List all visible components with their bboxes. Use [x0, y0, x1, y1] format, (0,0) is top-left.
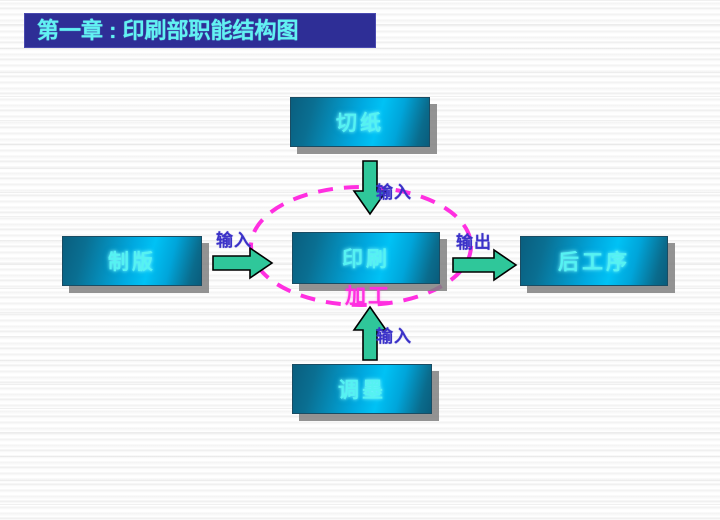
process-box-post-process[interactable]: 后工序: [520, 236, 668, 286]
flow-label-top: 输入: [376, 178, 412, 203]
process-box-label: 制版: [108, 246, 156, 276]
process-box-label: 调墨: [338, 374, 386, 404]
process-box-ink-mixing[interactable]: 调墨: [292, 364, 432, 414]
process-box-label: 印刷: [342, 243, 390, 273]
process-box-cut-paper[interactable]: 切纸: [290, 97, 430, 147]
process-box-label: 后工序: [558, 246, 630, 276]
page-title: 第一章 : 印刷部职能结构图: [25, 20, 299, 42]
arrow-right-icon: [212, 246, 274, 280]
flow-label-right: 输出: [456, 228, 492, 253]
slide-canvas: 第一章 : 印刷部职能结构图 切纸 制版 印刷 后工序 调墨: [0, 0, 720, 520]
process-box-printing[interactable]: 印刷: [292, 232, 440, 284]
flow-label-left: 输入: [216, 226, 252, 251]
process-box-label: 切纸: [336, 107, 384, 137]
arrow-right-icon: [452, 248, 518, 282]
flow-label-bottom: 输入: [376, 322, 412, 347]
slide-title-bar: 第一章 : 印刷部职能结构图: [24, 13, 376, 48]
process-box-plate-making[interactable]: 制版: [62, 236, 202, 286]
ellipse-annotation-label: 加工: [345, 280, 391, 310]
